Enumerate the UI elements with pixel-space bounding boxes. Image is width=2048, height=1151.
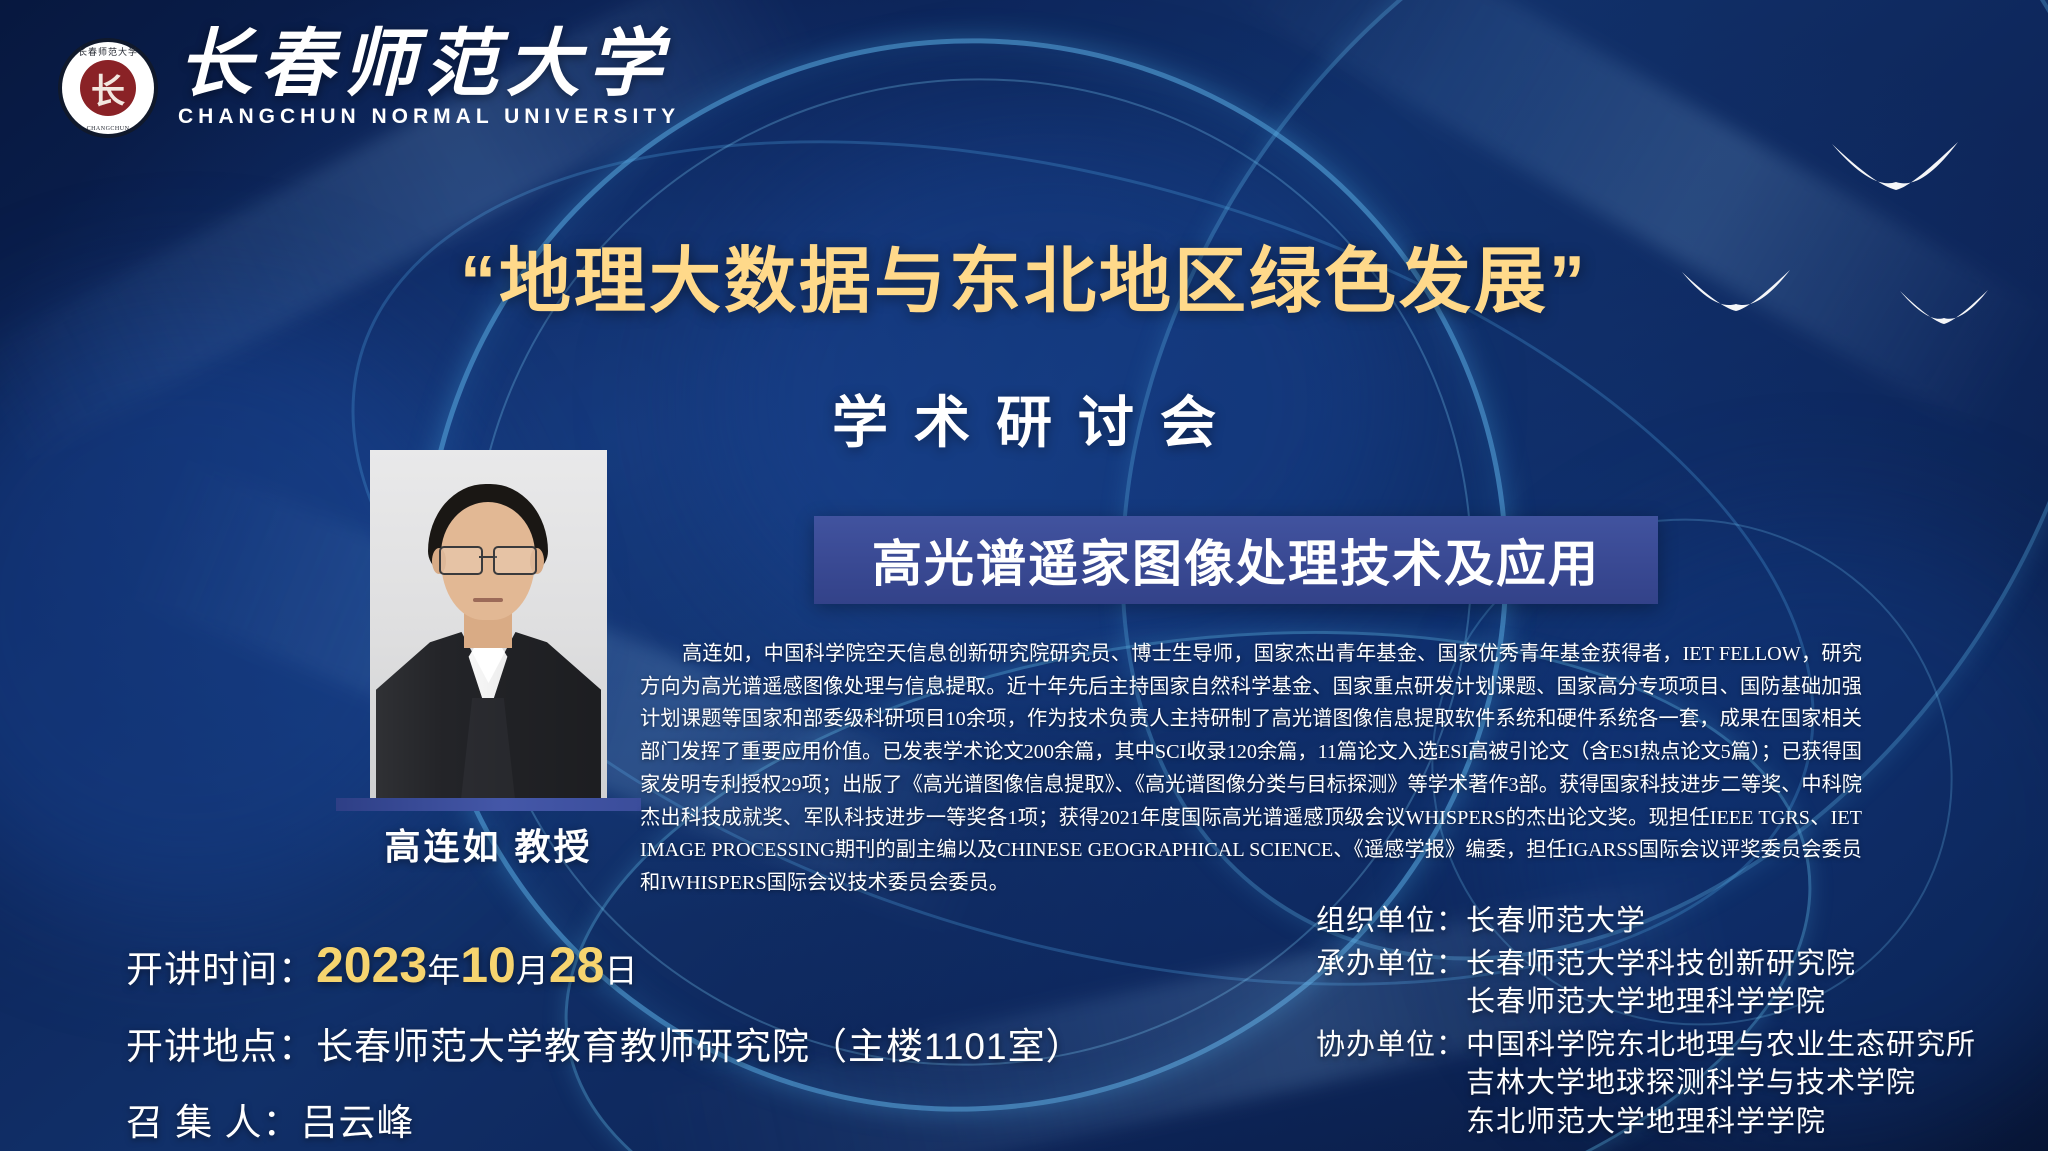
- organizer-label: 组织单位：: [1316, 902, 1466, 941]
- organizer-group: 组织单位： 长春师范大学: [1316, 902, 1976, 941]
- event-time-day: 28: [549, 936, 605, 994]
- event-place-row: 开讲地点： 长春师范大学教育教师研究院（主楼1101室）: [126, 1016, 1084, 1070]
- organizer-group: 承办单位： 长春师范大学科技创新研究院 长春师范大学地理科学学院: [1316, 945, 1976, 1022]
- event-time-year-unit: 年: [427, 944, 460, 992]
- event-time-day-unit: 日: [604, 944, 637, 992]
- event-time-month: 10: [460, 936, 516, 994]
- event-time-label: 开讲时间：: [126, 939, 316, 993]
- event-place-value: 长春师范大学教育教师研究院（主楼1101室）: [316, 1016, 1084, 1070]
- light-streak-3: [1205, 0, 2048, 436]
- event-details: 开讲时间： 2023 年 10 月 28 日 开讲地点： 长春师范大学教育教师研…: [126, 936, 1084, 1151]
- glasses-lens-right: [493, 546, 537, 575]
- page-title: “地理大数据与东北地区绿色发展”: [0, 222, 2048, 327]
- event-place-label: 开讲地点：: [126, 1016, 316, 1070]
- organizer-value: 长春师范大学地理科学学院: [1466, 983, 1856, 1022]
- event-convener-value: 吕云峰: [301, 1092, 415, 1146]
- organizer-value: 东北师范大学地理科学学院: [1466, 1103, 1976, 1142]
- speaker-name-underbar: [336, 798, 641, 811]
- wordmark-english: CHANGCHUN NORMAL UNIVERSITY: [178, 105, 680, 129]
- page-subtitle: 学术研讨会: [0, 378, 2048, 459]
- organizer-label: 承办单位：: [1316, 945, 1466, 984]
- photo-mouth: [473, 598, 503, 602]
- lecture-topic-label: 高光谱遥家图像处理技术及应用: [872, 524, 1600, 596]
- organizer-list: 组织单位： 长春师范大学 承办单位： 长春师范大学科技创新研究院 长春师范大学地…: [1316, 902, 1976, 1145]
- organizer-value: 长春师范大学: [1466, 902, 1646, 941]
- lecture-topic-bar: 高光谱遥家图像处理技术及应用: [814, 516, 1658, 604]
- organizer-values: 长春师范大学科技创新研究院 长春师范大学地理科学学院: [1466, 945, 1856, 1022]
- organizer-group: 协办单位： 中国科学院东北地理与农业生态研究所 吉林大学地球探测科学与技术学院 …: [1316, 1026, 1976, 1142]
- seagull-icon-1: [1830, 140, 1960, 194]
- logo-inner-glyph: 长: [62, 42, 154, 134]
- organizer-value: 中国科学院东北地理与农业生态研究所: [1466, 1026, 1976, 1065]
- organizer-label: 协办单位：: [1316, 1026, 1466, 1065]
- organizer-values: 长春师范大学: [1466, 902, 1646, 941]
- speaker-name: 高连如 教授: [336, 818, 641, 870]
- university-header: 长春师范大学 长 CHANGCHUN 长春师范大学 CHANGCHUN NORM…: [62, 28, 680, 134]
- organizer-value: 吉林大学地球探测科学与技术学院: [1466, 1064, 1976, 1103]
- event-time-row: 开讲时间： 2023 年 10 月 28 日: [126, 936, 1084, 994]
- wordmark-chinese: 长春师范大学: [178, 28, 680, 103]
- speaker-photo: [370, 450, 607, 798]
- event-convener-label: 召 集 人：: [126, 1092, 301, 1146]
- poster-canvas: 长春师范大学 长 CHANGCHUN 长春师范大学 CHANGCHUN NORM…: [0, 0, 2048, 1151]
- event-convener-row: 召 集 人： 吕云峰: [126, 1092, 1084, 1146]
- photo-glasses-icon: [439, 546, 537, 572]
- event-time-year: 2023: [316, 936, 427, 994]
- university-wordmark: 长春师范大学 CHANGCHUN NORMAL UNIVERSITY: [178, 28, 680, 129]
- university-logo-icon: 长春师范大学 长 CHANGCHUN: [62, 42, 154, 134]
- organizer-values: 中国科学院东北地理与农业生态研究所 吉林大学地球探测科学与技术学院 东北师范大学…: [1466, 1026, 1976, 1142]
- event-time-month-unit: 月: [516, 944, 549, 992]
- speaker-biography: 高连如，中国科学院空天信息创新研究院研究员、博士生导师，国家杰出青年基金、国家优…: [640, 638, 1862, 900]
- glasses-lens-left: [439, 546, 483, 575]
- organizer-value: 长春师范大学科技创新研究院: [1466, 945, 1856, 984]
- logo-rim-en: CHANGCHUN: [62, 126, 154, 132]
